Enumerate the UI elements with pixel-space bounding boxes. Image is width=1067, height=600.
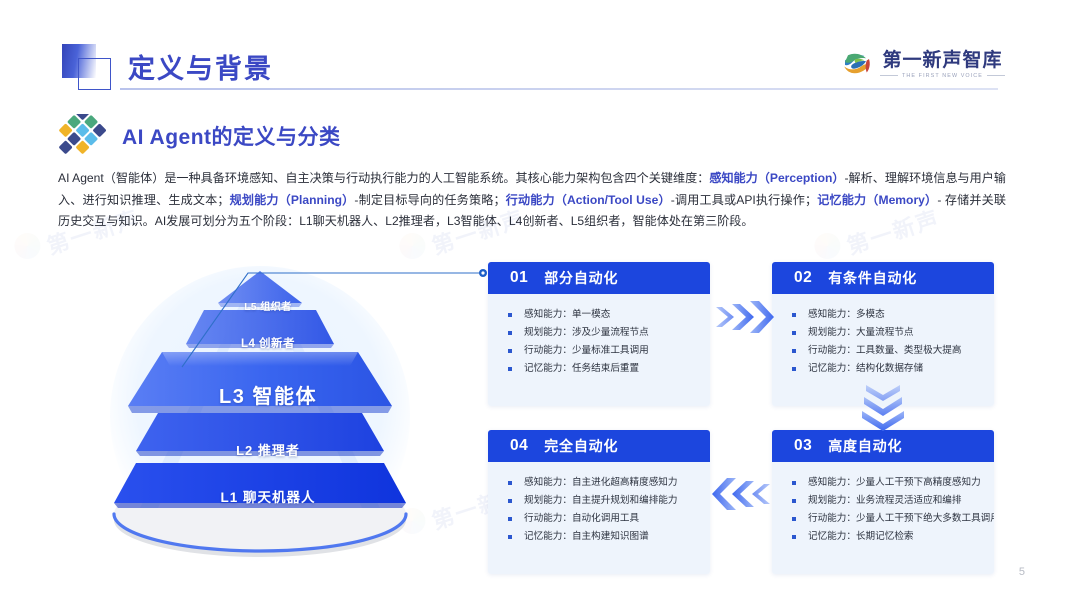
keyword-perception: 感知能力（Perception） (709, 171, 844, 185)
brand-name-cn: 第一新声智库 (882, 51, 1002, 71)
pyramid-level-l2: L2 推理者 (58, 440, 478, 459)
stage-card-04[interactable]: 04 完全自动化 感知能力：自主进化超高精度感知力 规划能力：自主提升规划和编排… (488, 430, 710, 574)
slide-root: 第一新声 第一新声 第一新声 第一新声 第一新声 定义与背景 第一新声智库 TH… (0, 0, 1067, 600)
keyword-action: 行动能力（Action/Tool Use） (506, 193, 671, 207)
list-item: 规划能力：自主提升规划和编排能力 (506, 492, 700, 510)
stage-card-02-number: 02 (794, 269, 812, 287)
list-item: 感知能力：单一模态 (506, 306, 700, 324)
intro-paragraph: AI Agent（智能体）是一种具备环境感知、自主决策与行动执行能力的人工智能系… (58, 168, 1006, 233)
stage-card-03-body: 感知能力：少量人工干预下高精度感知力 规划能力：业务流程灵活适应和编排 行动能力… (772, 462, 994, 574)
list-item: 行动能力：少量人工干预下绝大多数工具调用 (790, 510, 984, 528)
diamond-mosaic-icon (58, 114, 110, 158)
list-item: 行动能力：工具数量、类型极大提高 (790, 342, 984, 360)
stage-card-02-title: 有条件自动化 (828, 268, 917, 288)
stage-card-02-header: 02 有条件自动化 (772, 262, 994, 294)
keyword-memory: 记忆能力（Memory） (817, 193, 937, 207)
brand-globe-icon (842, 50, 872, 80)
list-item: 感知能力：多模态 (790, 306, 984, 324)
stage-card-01[interactable]: 01 部分自动化 感知能力：单一模态 规划能力：涉及少量流程节点 行动能力：少量… (488, 262, 710, 406)
stage-card-04-title: 完全自动化 (544, 436, 618, 456)
para-seg-4: -调用工具或API执行操作； (671, 193, 817, 207)
chevrons-down-icon (858, 383, 908, 431)
keyword-planning: 规划能力（Planning） (229, 193, 354, 207)
para-seg-1: AI Agent（智能体）是一种具备环境感知、自主决策与行动执行能力的人工智能系… (58, 171, 709, 185)
stage-card-04-body: 感知能力：自主进化超高精度感知力 规划能力：自主提升规划和编排能力 行动能力：自… (488, 462, 710, 574)
stage-card-03-number: 03 (794, 437, 812, 455)
chevrons-right-icon (712, 295, 774, 339)
list-item: 记忆能力：结构化数据存储 (790, 360, 984, 378)
header-square-mark-icon (62, 44, 114, 88)
list-item: 行动能力：少量标准工具调用 (506, 342, 700, 360)
pyramid-level-l3: L3 智能体 (58, 380, 478, 409)
stage-card-01-number: 01 (510, 269, 528, 287)
list-item: 记忆能力：任务结束后重置 (506, 360, 700, 378)
stage-card-01-header: 01 部分自动化 (488, 262, 710, 294)
pyramid-level-l1: L1 聊天机器人 (58, 486, 478, 506)
list-item: 记忆能力：长期记忆检索 (790, 528, 984, 546)
list-item: 感知能力：自主进化超高精度感知力 (506, 474, 700, 492)
chevrons-left-icon (712, 472, 774, 516)
stage-card-03-header: 03 高度自动化 (772, 430, 994, 462)
brand-name-en: THE FIRST NEW VOICE (902, 73, 983, 79)
section-title: AI Agent的定义与分类 (122, 121, 341, 151)
stage-card-01-body: 感知能力：单一模态 规划能力：涉及少量流程节点 行动能力：少量标准工具调用 记忆… (488, 294, 710, 406)
stage-card-01-title: 部分自动化 (544, 268, 618, 288)
stage-card-04-number: 04 (510, 437, 528, 455)
header-divider (120, 88, 998, 90)
stage-card-03-title: 高度自动化 (828, 436, 902, 456)
list-item: 规划能力：业务流程灵活适应和编排 (790, 492, 984, 510)
page-number: 5 (1019, 566, 1025, 578)
list-item: 行动能力：自动化调用工具 (506, 510, 700, 528)
list-item: 感知能力：少量人工干预下高精度感知力 (790, 474, 984, 492)
para-seg-3: -制定目标导向的任务策略； (354, 193, 505, 207)
list-item: 规划能力：涉及少量流程节点 (506, 324, 700, 342)
brand-logo: 第一新声智库 THE FIRST NEW VOICE (842, 50, 1005, 80)
pyramid-to-card-connector (180, 255, 510, 370)
list-item: 规划能力：大量流程节点 (790, 324, 984, 342)
stage-card-03[interactable]: 03 高度自动化 感知能力：少量人工干预下高精度感知力 规划能力：业务流程灵活适… (772, 430, 994, 574)
page-title: 定义与背景 (128, 47, 273, 86)
section-heading: AI Agent的定义与分类 (58, 114, 341, 158)
list-item: 记忆能力：自主构建知识图谱 (506, 528, 700, 546)
stage-card-04-header: 04 完全自动化 (488, 430, 710, 462)
